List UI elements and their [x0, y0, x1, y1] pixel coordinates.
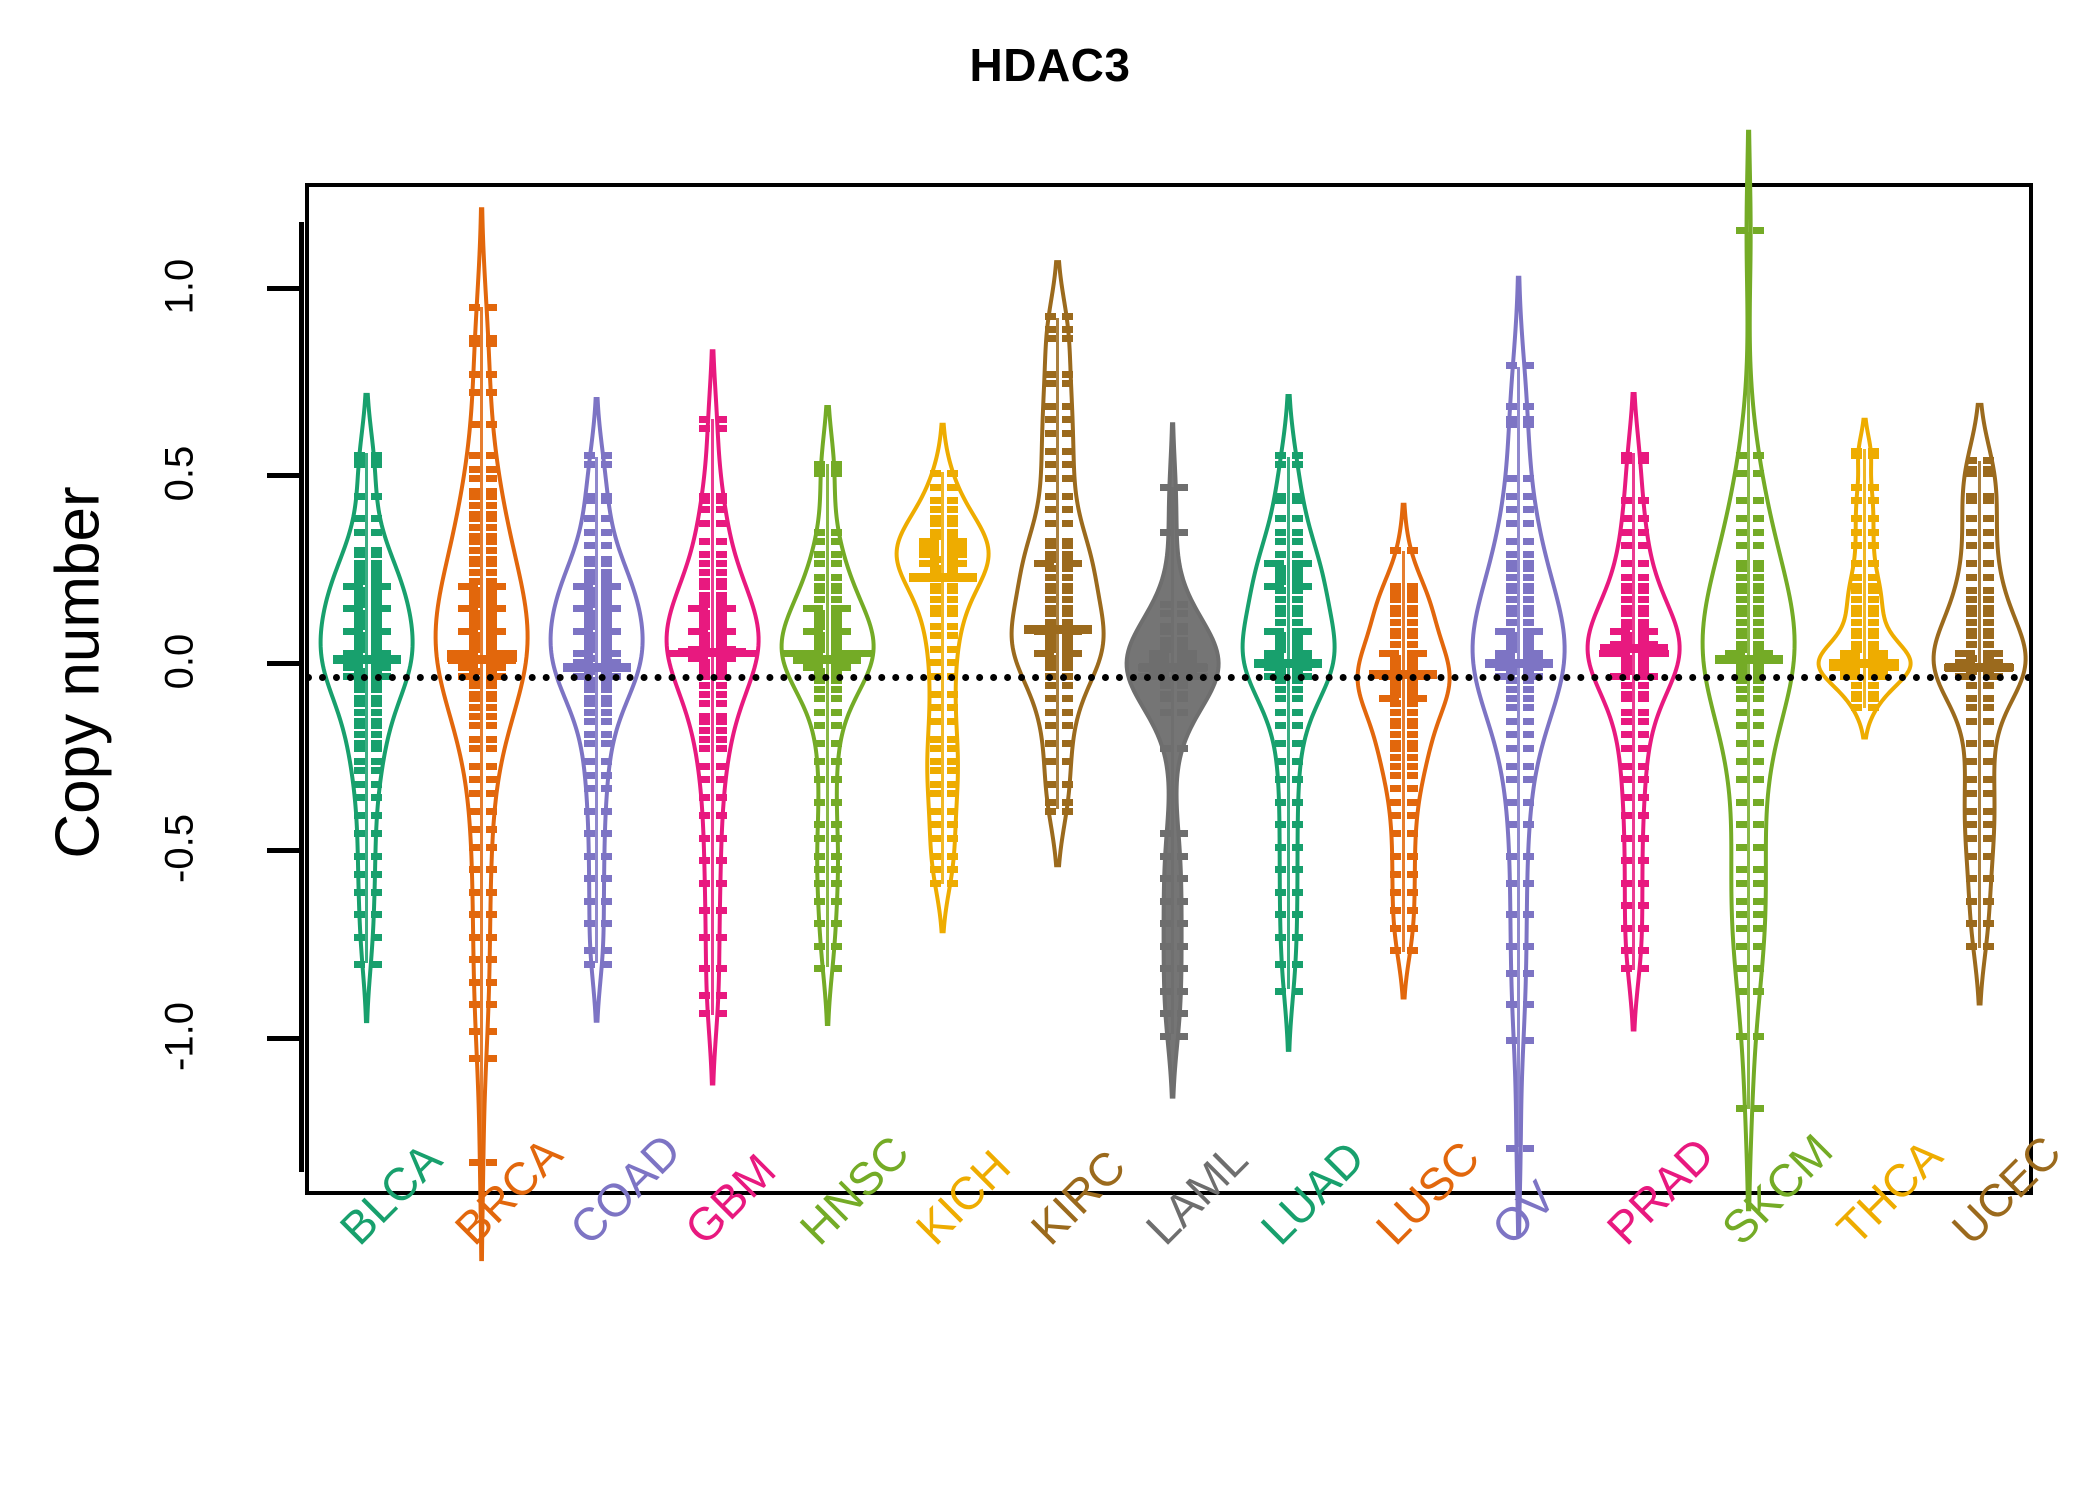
bean-inner	[424, 187, 539, 1199]
bean-dash	[354, 560, 365, 567]
bean-dash	[1045, 709, 1056, 716]
bean-dash	[814, 574, 825, 581]
bean-dash	[469, 466, 480, 473]
bean-dash	[1851, 583, 1862, 590]
bean-dash	[1062, 583, 1073, 590]
bean-column-ov[interactable]	[1461, 187, 1576, 1199]
bean-dash	[1983, 821, 1994, 828]
bean-column-skcm[interactable]	[1691, 187, 1806, 1199]
bean-dash	[930, 790, 941, 797]
bean-dash	[1292, 538, 1303, 545]
bean-dash	[947, 736, 958, 743]
y-tick-0p5	[267, 473, 299, 478]
bean-dash	[1177, 637, 1188, 644]
bean-dash	[716, 560, 727, 567]
bean-dash	[469, 722, 480, 729]
bean-dash	[1621, 812, 1632, 819]
bean-dash	[469, 533, 480, 540]
bean-dash	[1621, 776, 1632, 783]
bean-dash	[1753, 988, 1764, 995]
bean-column-luad[interactable]	[1231, 187, 1346, 1199]
bean-dash	[831, 695, 842, 702]
bean-column-gbm[interactable]	[655, 187, 770, 1199]
bean-dash	[1292, 529, 1303, 536]
bean-dash	[947, 470, 958, 477]
bean-dash	[371, 547, 382, 554]
bean-dash	[1753, 925, 1764, 932]
bean-dash	[1177, 601, 1188, 608]
bean-dash	[1506, 362, 1517, 369]
bean-dash	[1851, 497, 1862, 504]
bean-dash	[1736, 776, 1747, 783]
bean-dash	[1062, 335, 1073, 342]
bean-dash	[1292, 988, 1303, 995]
bean-dash	[699, 569, 710, 576]
bean-dash	[1868, 682, 1879, 689]
bean-dash	[486, 808, 497, 815]
bean-dash	[1638, 902, 1649, 909]
bean-dash	[354, 740, 365, 747]
bean-dash	[699, 700, 710, 707]
bean-dash	[1621, 835, 1632, 842]
bean-dash	[469, 421, 480, 428]
bean-dash	[1062, 448, 1073, 455]
bean-dash	[1523, 403, 1534, 410]
bean-dash	[601, 731, 612, 738]
bean-dash	[947, 646, 958, 653]
bean-dash	[1983, 790, 1994, 797]
bean-inner	[1346, 187, 1461, 1199]
bean-dash	[930, 853, 941, 860]
bean-dash	[469, 808, 480, 815]
bean-dash	[1966, 605, 1977, 612]
bean-spine	[480, 307, 483, 1162]
bean-dash	[1523, 799, 1534, 806]
bean-dash	[1753, 515, 1764, 522]
bean-dash	[930, 767, 941, 774]
bean-column-hnsc[interactable]	[770, 187, 885, 1199]
bean-column-coad[interactable]	[539, 187, 654, 1199]
bean-dash	[947, 623, 958, 630]
bean-dash	[831, 605, 851, 612]
bean-dash	[1292, 776, 1303, 783]
bean-dash	[1621, 718, 1632, 725]
bean-dash	[699, 416, 710, 423]
bean-dash	[1753, 1033, 1764, 1040]
bean-dash	[1868, 596, 1879, 603]
bean-dash	[1390, 619, 1401, 626]
bean-dash	[1045, 605, 1056, 612]
bean-dash	[716, 520, 727, 527]
bean-dash	[371, 911, 382, 918]
bean-dash	[1753, 866, 1764, 873]
bean-dash	[831, 898, 842, 905]
bean-dash	[1506, 853, 1517, 860]
bean-dash	[1390, 583, 1401, 590]
bean-dash	[1407, 763, 1418, 770]
bean-dash	[1275, 686, 1286, 693]
bean-dash	[930, 596, 941, 603]
bean-dash	[716, 569, 727, 576]
bean-dash	[486, 704, 497, 711]
bean-dash	[1160, 709, 1171, 716]
bean-dash	[1062, 538, 1073, 545]
bean-dash	[716, 794, 727, 801]
bean-dash	[1292, 758, 1303, 765]
bean-dash	[1966, 821, 1977, 828]
bean-dash	[1390, 785, 1401, 792]
bean-dash	[814, 722, 825, 729]
bean-dash	[1045, 596, 1056, 603]
bean-dash	[814, 758, 825, 765]
bean-dash	[1062, 740, 1073, 747]
bean-dash	[601, 853, 612, 860]
bean-dash	[1062, 808, 1073, 815]
bean-column-prad[interactable]	[1576, 187, 1691, 1199]
bean-dash	[1753, 844, 1764, 851]
bean-dash	[1177, 610, 1188, 617]
bean-dash	[1275, 551, 1286, 558]
bean-dash	[1407, 718, 1418, 725]
bean-dash	[1292, 799, 1303, 806]
bean-dash	[716, 965, 727, 972]
bean-dash	[1379, 650, 1399, 657]
bean-dash	[1736, 988, 1747, 995]
bean-dash	[1523, 695, 1534, 702]
bean-dash	[486, 691, 497, 698]
bean-dash	[1753, 799, 1764, 806]
bean-dash	[1868, 583, 1879, 590]
bean-dash	[1736, 821, 1747, 828]
bean-dash	[601, 461, 612, 468]
bean-dash	[1523, 560, 1534, 567]
bean-dash	[486, 713, 497, 720]
bean-dash	[469, 745, 480, 752]
bean-dash	[584, 493, 595, 500]
bean-dash	[947, 781, 958, 788]
bean-dash	[1506, 596, 1517, 603]
bean-dash	[814, 560, 825, 567]
bean-dash	[1868, 529, 1879, 536]
bean-dash	[716, 551, 727, 558]
bean-dash	[1275, 821, 1286, 828]
bean-dash	[1638, 560, 1649, 567]
bean-dash	[1868, 542, 1879, 549]
bean-dash	[584, 830, 595, 837]
bean-dash	[1045, 475, 1056, 482]
bean-dash	[1062, 403, 1073, 410]
bean-dash	[1045, 551, 1056, 558]
bean-dash	[1275, 529, 1286, 536]
median-marker	[448, 655, 516, 664]
bean-dash	[354, 758, 365, 765]
bean-dash	[814, 596, 825, 603]
bean-column-kich[interactable]	[885, 187, 1000, 1199]
bean-dash	[1407, 830, 1418, 837]
bean-dash	[1177, 988, 1188, 995]
bean-dash	[1966, 560, 1977, 567]
bean-dash	[1292, 821, 1303, 828]
bean-dash	[1407, 754, 1418, 761]
bean-dash	[1621, 794, 1632, 801]
bean-dash	[1275, 515, 1286, 522]
bean-dash	[1177, 920, 1188, 927]
bean-dash	[1506, 619, 1517, 626]
bean-dash	[716, 736, 727, 743]
bean-dash	[1736, 470, 1747, 477]
bean-dash	[699, 578, 710, 585]
bean-dash	[831, 596, 842, 603]
bean-spine	[711, 419, 714, 1015]
bean-dash	[486, 776, 497, 783]
bean-dash	[371, 889, 382, 896]
bean-dash	[1506, 560, 1517, 567]
bean-dash	[1638, 596, 1649, 603]
bean-column-brca[interactable]	[424, 187, 539, 1199]
bean-dash	[1045, 781, 1056, 788]
bean-dash	[1062, 596, 1073, 603]
median-marker	[1945, 663, 2013, 672]
bean-dash	[947, 515, 958, 522]
bean-dash	[584, 961, 595, 968]
bean-dash	[1638, 776, 1649, 783]
bean-dash	[699, 506, 710, 513]
bean-dash	[1753, 965, 1764, 972]
bean-dash	[831, 776, 842, 783]
bean-dash	[1753, 574, 1764, 581]
y-tick-neg1	[267, 1036, 299, 1041]
bean-column-kirc[interactable]	[1000, 187, 1115, 1199]
bean-dash	[1638, 682, 1649, 689]
bean-dash	[1983, 718, 1994, 725]
bean-dash	[1736, 943, 1747, 950]
bean-dash	[1275, 605, 1286, 612]
bean-dash	[469, 934, 480, 941]
bean-dash	[1506, 520, 1517, 527]
bean-column-blca[interactable]	[309, 187, 424, 1199]
bean-dash	[1983, 943, 1994, 950]
bean-dash	[1983, 457, 1994, 464]
bean-dash	[831, 686, 842, 693]
bean-dash	[1506, 1001, 1517, 1008]
bean-dash	[1638, 452, 1649, 459]
bean-dash	[486, 524, 497, 531]
bean-dash	[814, 920, 825, 927]
bean-dash	[1160, 623, 1171, 630]
bean-dash	[1753, 880, 1764, 887]
bean-dash	[486, 934, 497, 941]
bean-dash	[1390, 925, 1401, 932]
bean-dash	[1983, 515, 1994, 522]
bean-dash	[1292, 493, 1303, 500]
bean-dash	[354, 452, 365, 459]
bean-dash	[1177, 623, 1188, 630]
bean-dash	[354, 871, 365, 878]
bean-dash	[1736, 628, 1747, 635]
bean-dash	[601, 758, 612, 765]
bean-dash	[1523, 911, 1534, 918]
bean-dash	[1160, 601, 1171, 608]
bean-dash	[716, 934, 727, 941]
bean-dash	[947, 790, 958, 797]
bean-dash	[486, 790, 497, 797]
bean-dash	[1966, 853, 1977, 860]
bean-dash	[1983, 695, 1994, 702]
bean-dash	[1638, 605, 1649, 612]
bean-dash	[1983, 628, 1994, 635]
bean-dash	[1390, 812, 1401, 819]
bean-dash	[947, 583, 958, 590]
bean-dash	[814, 898, 825, 905]
bean-dash	[699, 745, 710, 752]
bean-dash	[1851, 605, 1862, 612]
bean-column-ucec[interactable]	[1922, 187, 2037, 1199]
bean-dash	[1638, 794, 1649, 801]
bean-dash	[1621, 880, 1632, 887]
bean-dash	[1523, 763, 1534, 770]
bean-dash	[1506, 799, 1517, 806]
bean-spine	[826, 464, 829, 966]
bean-dash	[814, 821, 825, 828]
bean-dash	[831, 574, 842, 581]
bean-dash	[1736, 560, 1747, 567]
bean-dash	[1621, 925, 1632, 932]
bean-dash	[601, 785, 612, 792]
bean-dash	[1292, 628, 1312, 635]
bean-dash	[1983, 808, 1994, 815]
bean-dash	[1292, 551, 1303, 558]
bean-dash	[584, 920, 595, 927]
bean-dash	[831, 461, 842, 468]
median-marker	[1139, 663, 1207, 672]
bean-dash	[354, 889, 365, 896]
bean-dash	[1292, 934, 1303, 941]
bean-dash	[1506, 493, 1517, 500]
median-marker	[1830, 659, 1898, 668]
bean-dash	[1407, 740, 1418, 747]
bean-dash	[1062, 709, 1073, 716]
bean-dash	[699, 857, 710, 864]
bean-dash	[1275, 740, 1286, 747]
bean-dash	[1292, 695, 1303, 702]
bean-dash	[601, 695, 612, 702]
bean-dash	[1523, 583, 1534, 590]
bean-dash	[486, 844, 497, 851]
bean-dash	[584, 731, 595, 738]
bean-dash	[1736, 605, 1747, 612]
bean-dash	[814, 740, 825, 747]
bean-dash	[716, 763, 727, 770]
bean-dash	[1753, 227, 1764, 234]
bean-dash	[354, 961, 365, 968]
bean-dash	[930, 484, 941, 491]
bean-dash	[1851, 641, 1862, 648]
bean-spine	[1402, 551, 1405, 952]
bean-dash	[1062, 380, 1073, 387]
bean-dash	[699, 682, 710, 689]
bean-dash	[1160, 988, 1171, 995]
bean-dash	[584, 740, 595, 747]
bean-dash	[699, 713, 710, 720]
bean-dash	[1753, 529, 1764, 536]
y-tick-label: 0.0	[158, 561, 203, 761]
bean-dash	[1736, 880, 1747, 887]
bean-dash	[1966, 695, 1977, 702]
bean-dash	[1851, 704, 1862, 711]
bean-dash	[371, 740, 382, 747]
bean-dash	[1275, 911, 1286, 918]
bean-dash	[469, 475, 480, 482]
bean-dash	[1407, 947, 1418, 954]
bean-dash	[1638, 497, 1649, 504]
bean-dash	[1983, 776, 1994, 783]
bean-dash	[1062, 416, 1073, 423]
bean-dash	[814, 776, 825, 783]
bean-dash	[371, 812, 382, 819]
bean-dash	[814, 529, 825, 536]
bean-dash	[469, 389, 480, 396]
bean-dash	[1407, 907, 1418, 914]
bean-dash	[1966, 790, 1977, 797]
bean-dash	[1638, 574, 1649, 581]
bean-dash	[1275, 596, 1286, 603]
bean-dash	[1506, 686, 1517, 693]
bean-column-lusc[interactable]	[1346, 187, 1461, 1199]
bean-dash	[930, 506, 941, 513]
bean-dash	[1753, 898, 1764, 905]
bean-dash	[1292, 961, 1303, 968]
bean-dash	[1638, 745, 1649, 752]
bean-dash	[1966, 776, 1977, 783]
bean-dash	[584, 947, 595, 954]
bean-dash	[699, 538, 710, 545]
bean-dash	[1407, 799, 1418, 806]
bean-dash	[930, 529, 941, 536]
bean-dash	[486, 488, 497, 495]
bean-dash	[1523, 416, 1534, 423]
bean-dash	[947, 767, 958, 774]
bean-dash	[1506, 731, 1517, 738]
bean-dash	[1638, 709, 1649, 716]
bean-spine	[1517, 367, 1520, 1147]
bean-dash	[584, 452, 595, 459]
bean-dash	[1506, 695, 1517, 702]
bean-dash	[469, 1159, 480, 1166]
bean-dash	[354, 812, 365, 819]
bean-dash	[1045, 722, 1056, 729]
bean-dash	[1983, 587, 1994, 594]
bean-dash	[1177, 853, 1188, 860]
bean-dash	[1983, 650, 2003, 657]
bean-dash	[469, 889, 480, 896]
bean-dash	[1506, 1037, 1517, 1044]
bean-dash	[486, 1055, 497, 1062]
bean-dash	[1275, 722, 1286, 729]
bean-dash	[1506, 704, 1517, 711]
bean-dash	[1160, 529, 1171, 536]
bean-dash	[1736, 965, 1747, 972]
bean-dash	[1736, 1033, 1747, 1040]
bean-dash	[1506, 475, 1517, 482]
bean-column-laml[interactable]	[1115, 187, 1230, 1199]
bean-dash	[1506, 718, 1517, 725]
bean-column-thca[interactable]	[1807, 187, 1922, 1199]
bean-dash	[947, 821, 958, 828]
y-tick-0	[267, 661, 299, 666]
bean-dash	[1177, 709, 1188, 716]
bean-dash	[716, 416, 727, 423]
bean-dash	[1966, 466, 1977, 473]
